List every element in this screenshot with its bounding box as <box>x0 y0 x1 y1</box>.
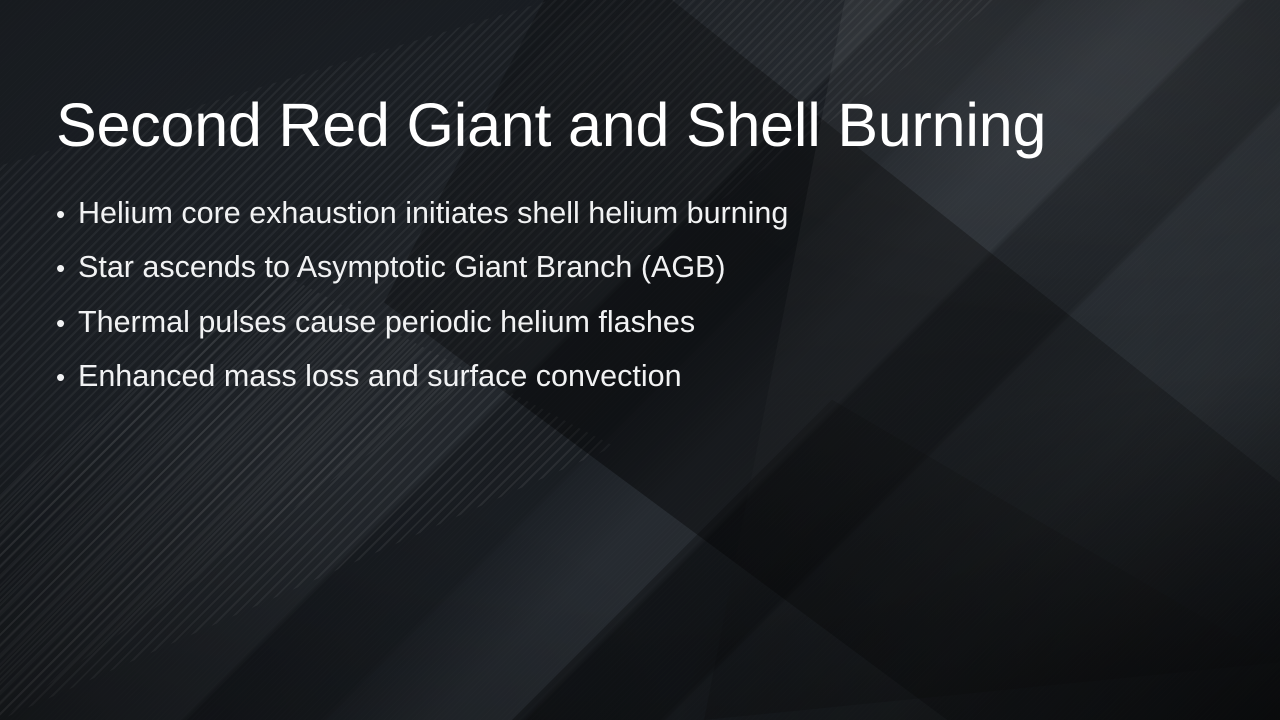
bullet-list-item: • Thermal pulses cause periodic helium f… <box>56 295 1056 349</box>
bullet-point-icon: • <box>56 350 78 404</box>
slide-content: Second Red Giant and Shell Burning • Hel… <box>0 0 1280 720</box>
bullet-list-item: • Star ascends to Asymptotic Giant Branc… <box>56 240 1056 294</box>
bullet-point-icon: • <box>56 187 78 241</box>
bullet-list-item: • Enhanced mass loss and surface convect… <box>56 349 1056 403</box>
slide-title: Second Red Giant and Shell Burning <box>56 93 1186 159</box>
bullet-point-icon: • <box>56 296 78 350</box>
bullet-list-item-label: Enhanced mass loss and surface convectio… <box>78 349 682 403</box>
presentation-slide: Second Red Giant and Shell Burning • Hel… <box>0 0 1280 720</box>
bullet-list-item: • Helium core exhaustion initiates shell… <box>56 186 1056 240</box>
bullet-list-item-label: Star ascends to Asymptotic Giant Branch … <box>78 240 726 294</box>
bullet-point-icon: • <box>56 241 78 295</box>
bullet-list: • Helium core exhaustion initiates shell… <box>56 186 1056 403</box>
bullet-list-item-label: Thermal pulses cause periodic helium fla… <box>78 295 695 349</box>
bullet-list-item-label: Helium core exhaustion initiates shell h… <box>78 186 788 240</box>
